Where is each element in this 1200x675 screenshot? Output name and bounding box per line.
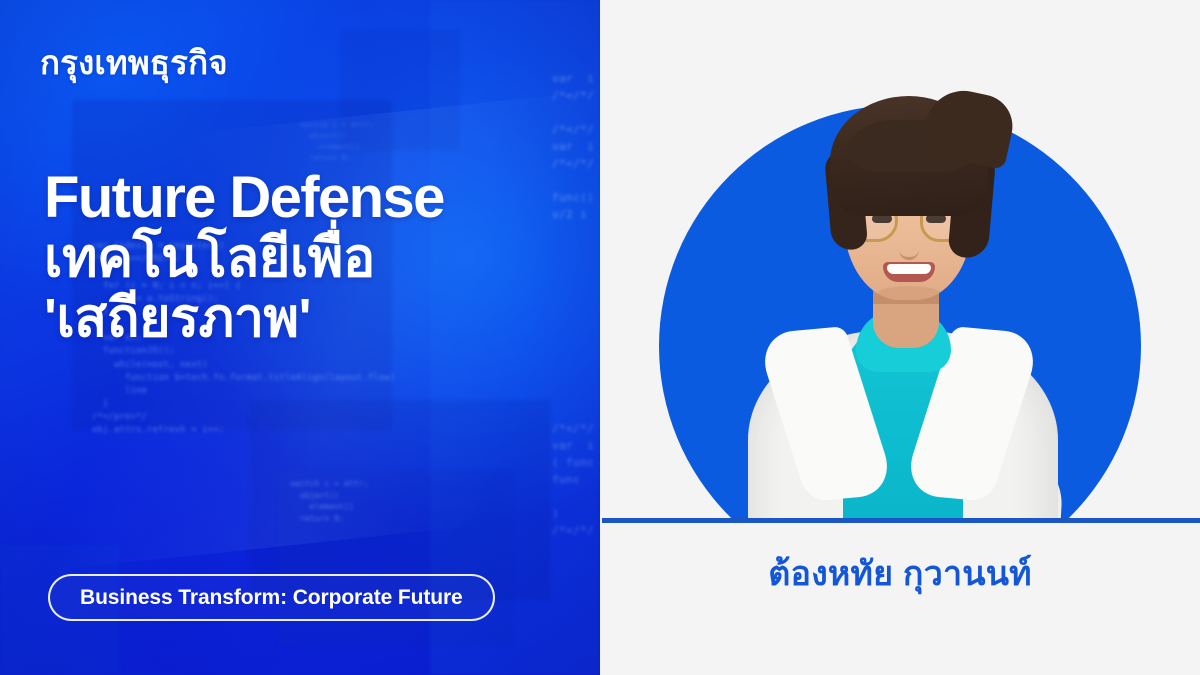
speaker-name: ต้องหทัย กุวานนท์ <box>600 546 1200 600</box>
portrait-container <box>600 0 1200 521</box>
brand-logo[interactable]: กรุงเทพธุรกิจ <box>40 44 228 82</box>
page-title: Future Defense เทคโนโลยีเพื่อ 'เสถียรภาพ… <box>44 168 589 349</box>
right-speaker-panel: ต้องหทัย กุวานนท์ <box>600 0 1200 675</box>
left-blue-panel: switch i = attr; object() element[] retu… <box>0 0 600 675</box>
series-badge[interactable]: Business Transform: Corporate Future <box>48 574 495 621</box>
speaker-portrait-image <box>600 0 1200 521</box>
background-code-text-faint: switch i = attr; object() element[] retu… <box>300 120 374 163</box>
portrait-mouth <box>883 262 935 282</box>
horizontal-divider <box>602 518 1200 523</box>
page-title-line-1: Future Defense <box>44 168 589 228</box>
news-cover-card: switch i = attr; object() element[] retu… <box>0 0 1200 675</box>
background-code-text-secondary: switch i = attr; object() element[] retu… <box>290 478 369 525</box>
portrait-teeth <box>887 264 931 274</box>
page-title-line-2: เทคโนโลยีเพื่อ <box>44 228 589 288</box>
portrait-chin-shadow <box>878 286 940 300</box>
page-title-line-3: 'เสถียรภาพ' <box>44 288 589 348</box>
background-code-text-edge-bottom: /*</*/ var i ( func func ) /*</*/ <box>552 420 594 539</box>
